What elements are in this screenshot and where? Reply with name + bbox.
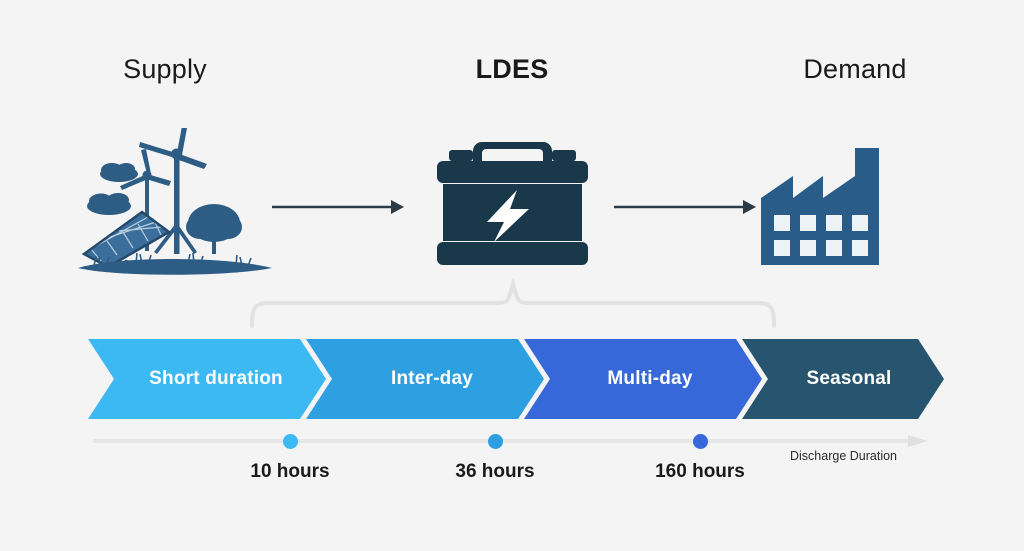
chevron-inter-day[interactable]: Inter-day bbox=[306, 339, 544, 419]
battery-icon bbox=[425, 132, 600, 277]
column-title-demand: Demand bbox=[690, 54, 1020, 85]
diagram-canvas: Supply LDES Demand bbox=[0, 0, 1024, 551]
chevron-label: Seasonal bbox=[794, 368, 891, 390]
axis-dot-10-hours bbox=[283, 434, 298, 449]
chevron-label: Inter-day bbox=[377, 368, 473, 390]
axis-tick-label-1: 36 hours bbox=[455, 461, 534, 483]
chevron-label: Short duration bbox=[131, 368, 283, 390]
chevron-label: Multi-day bbox=[593, 368, 692, 390]
factory-icon bbox=[757, 140, 897, 275]
renewable-energy-icon bbox=[76, 128, 276, 278]
axis-dot-160-hours bbox=[693, 434, 708, 449]
axis-tick-label-0: 10 hours bbox=[250, 461, 329, 483]
axis-tick-label-2: 160 hours bbox=[655, 461, 745, 483]
axis-caption: Discharge Duration bbox=[790, 449, 897, 463]
chevron-short-duration[interactable]: Short duration bbox=[88, 339, 326, 419]
column-title-ldes: LDES bbox=[347, 54, 677, 85]
axis-arrow-icon bbox=[908, 431, 930, 451]
curly-brace bbox=[248, 278, 778, 328]
chevron-multi-day[interactable]: Multi-day bbox=[524, 339, 762, 419]
chevron-seasonal[interactable]: Seasonal bbox=[742, 339, 944, 419]
duration-chevron-bar: Short duration Inter-day Multi-day Seaso… bbox=[88, 339, 944, 419]
axis-dot-36-hours bbox=[488, 434, 503, 449]
discharge-duration-axis bbox=[93, 439, 919, 443]
arrow-ldes-to-demand-icon bbox=[612, 196, 757, 218]
arrow-supply-to-ldes-icon bbox=[270, 196, 405, 218]
column-title-supply: Supply bbox=[0, 54, 330, 85]
